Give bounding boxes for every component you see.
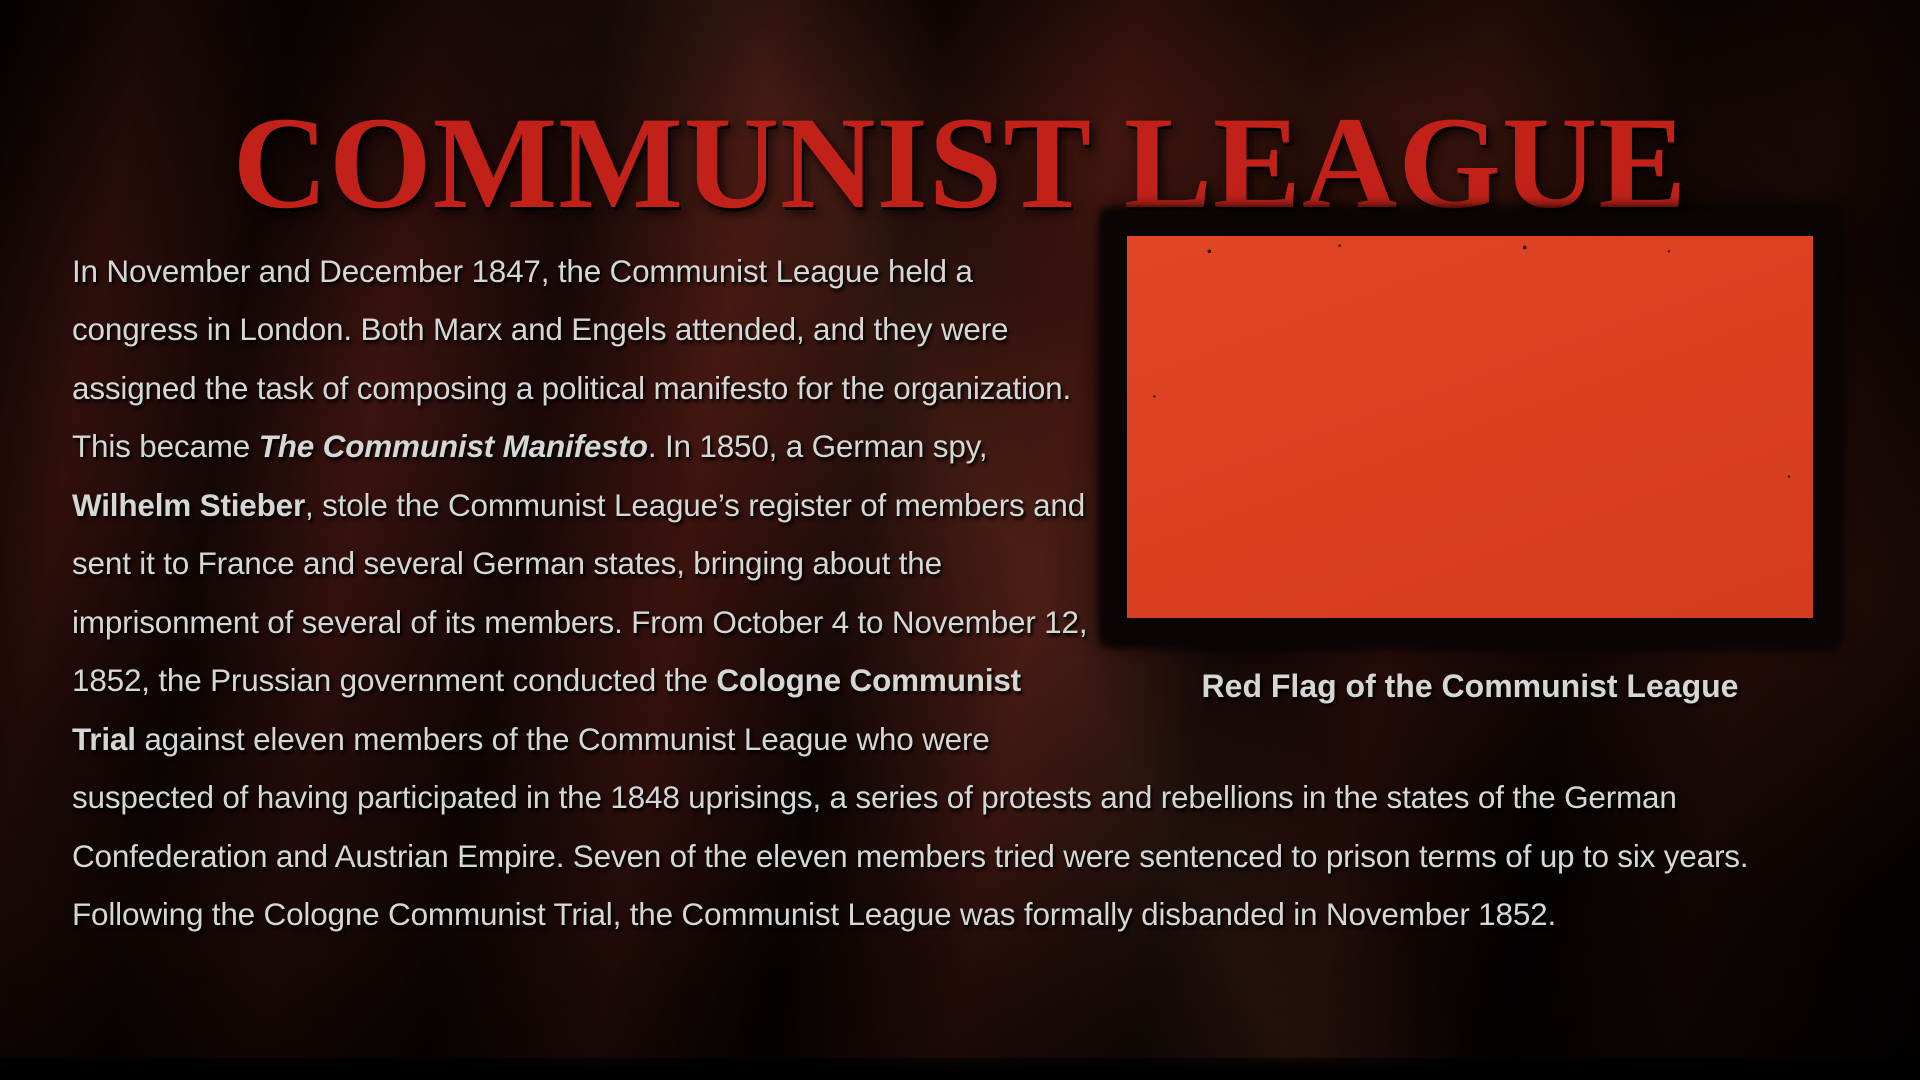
body-segment-6: against eleven members of the Communist … (72, 721, 1748, 933)
body-segment-2: . In 1850, a German spy, (648, 428, 988, 464)
body-container: In November and December 1847, the Commu… (72, 210, 1862, 975)
body-segment-1: The Communist Manifesto (259, 428, 648, 464)
figure-wrap-spacer (1122, 210, 1862, 720)
body-segment-3: Wilhelm Stieber (72, 487, 305, 523)
background-bottom-bar (0, 1058, 1920, 1080)
slide-canvas: COMMUNIST LEAGUE Red Flag of the Communi… (0, 0, 1920, 1080)
